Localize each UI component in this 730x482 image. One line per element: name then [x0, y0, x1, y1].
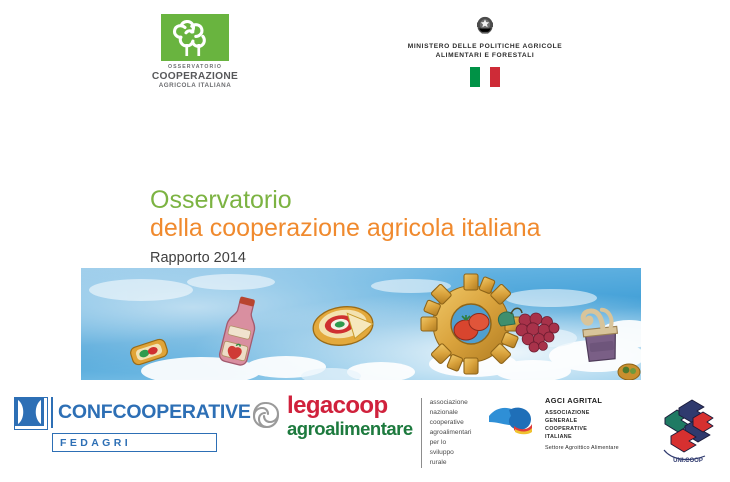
banner-illustration — [81, 268, 641, 380]
ministero-line-1: MINISTERO DELLE POLITICHE AGRICOLE — [380, 43, 590, 52]
footer-logos: CONFCOOPERATIVE FEDAGRI legacoop agroali… — [0, 386, 730, 482]
agci-sub-3: COOPERATIVE — [545, 425, 619, 433]
agci-sub-1: ASSOCIAZIONE — [545, 409, 619, 417]
confcooperative-name: CONFCOOPERATIVE — [58, 397, 251, 430]
osservatorio-line-2: COOPERAZIONE — [140, 71, 250, 82]
agci-logo: AGCI AGRITAL ASSOCIAZIONE GENERALE COOPE… — [487, 397, 637, 451]
osservatorio-line-3: AGRICOLA ITALIANA — [140, 82, 250, 89]
title-line-2: della cooperazione agricola italiana — [150, 214, 670, 242]
osservatorio-logo-text: OSSERVATORIO COOPERAZIONE AGRICOLA ITALI… — [140, 65, 250, 89]
confcooperative-mark-icon — [14, 397, 48, 430]
agci-wave-icon — [487, 400, 539, 436]
legacoop-tagline-2: nazionale — [430, 408, 472, 418]
legacoop-word-top: legacoop — [287, 394, 413, 418]
legacoop-tagline-1: associazione — [430, 398, 472, 408]
legacoop-tagline-4: agroalimentari — [430, 428, 472, 438]
title-subtitle: Rapporto 2014 — [150, 250, 670, 266]
confcooperative-sub-box: FEDAGRI — [52, 433, 217, 452]
confcooperative-divider — [51, 397, 53, 428]
ministero-line-2: ALIMENTARI E FORESTALI — [380, 52, 590, 61]
legacoop-wordmark: legacoop agroalimentare — [287, 394, 413, 438]
olives-icon — [618, 364, 640, 380]
agci-sub-4: ITALIANE — [545, 433, 619, 441]
unicoop-interlock-icon: UNI.COOP — [655, 396, 721, 468]
legacoop-tagline-5: per lo sviluppo rurale — [430, 438, 472, 468]
header-logos: OSSERVATORIO COOPERAZIONE AGRICOLA ITALI… — [0, 0, 730, 110]
flag-band-red — [490, 67, 500, 87]
agci-subtitle: ASSOCIAZIONE GENERALE COOPERATIVE ITALIA… — [545, 409, 619, 441]
title-line-1: Osservatorio — [150, 186, 670, 214]
italian-republic-emblem-icon — [472, 12, 498, 38]
ministero-logo: MINISTERO DELLE POLITICHE AGRICOLE ALIME… — [380, 12, 590, 87]
legacoop-tagline: associazione nazionale cooperative agroa… — [421, 398, 472, 468]
legacoop-logo: legacoop agroalimentare associazione naz… — [249, 394, 469, 468]
osservatorio-logo: OSSERVATORIO COOPERAZIONE AGRICOLA ITALI… — [140, 14, 250, 89]
flag-band-white — [480, 67, 490, 87]
agci-sector: Settore Agroittico Alimentare — [545, 445, 619, 451]
legacoop-word-bottom: agroalimentare — [287, 420, 413, 439]
legacoop-spiral-icon — [249, 398, 283, 432]
agci-sub-2: GENERALE — [545, 417, 619, 425]
unicoop-label: UNI.COOP — [673, 458, 703, 464]
italian-flag-icon — [470, 67, 501, 87]
agci-title: AGCI AGRITAL — [545, 397, 619, 406]
flag-band-green — [470, 67, 480, 87]
tree-handshake-icon — [161, 14, 229, 61]
confcooperative-logo: CONFCOOPERATIVE FEDAGRI — [14, 397, 214, 452]
legacoop-tagline-3: cooperative — [430, 418, 472, 428]
unicoop-logo: UNI.COOP — [655, 396, 721, 468]
ministero-logo-text: MINISTERO DELLE POLITICHE AGRICOLE ALIME… — [380, 43, 590, 61]
page-title: Osservatorio della cooperazione agricola… — [150, 186, 670, 266]
confcooperative-sub: FEDAGRI — [53, 437, 131, 449]
agci-wordmark: AGCI AGRITAL ASSOCIAZIONE GENERALE COOPE… — [545, 397, 619, 451]
